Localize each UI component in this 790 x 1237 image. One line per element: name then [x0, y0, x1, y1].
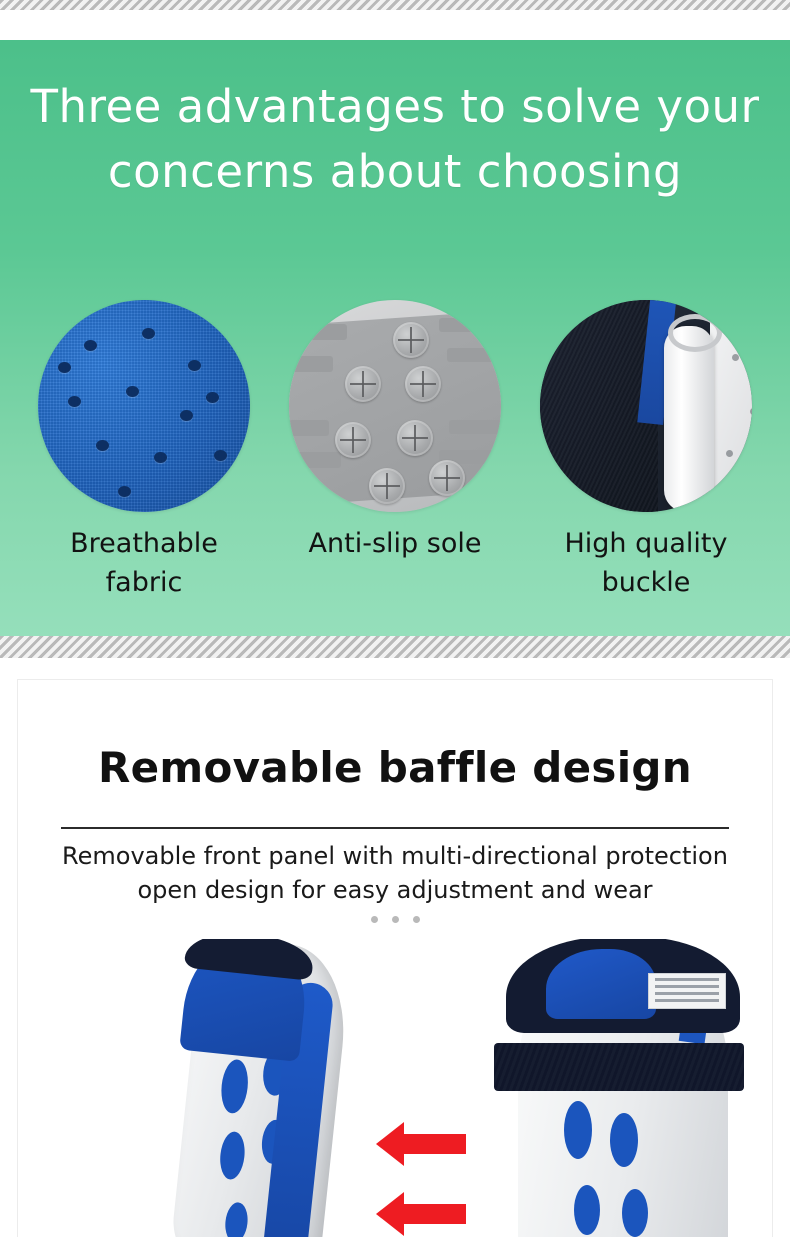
removable-baffle-card: Removable baffle design Removable front …: [18, 680, 772, 1237]
arrow-head: [376, 1122, 404, 1166]
removable-front-panel-photo: [151, 939, 384, 1237]
boot-product-label: [648, 973, 726, 1009]
feature-breathable-fabric: Breathable fabric: [37, 300, 252, 602]
title-divider: [61, 827, 729, 829]
arrow-shaft: [404, 1134, 466, 1154]
feature-anti-slip-sole: Anti-slip sole: [288, 300, 503, 602]
separator-dot: [392, 916, 399, 923]
advantages-section: Three advantages to solve your concerns …: [0, 40, 790, 636]
high-quality-buckle-icon: [540, 300, 752, 512]
buckle-bar: [664, 326, 714, 512]
breathable-fabric-icon: [38, 300, 250, 512]
product-photo-area: [18, 939, 772, 1237]
boot-velcro-strap: [494, 1043, 744, 1091]
arrow-shaft: [404, 1204, 466, 1224]
top-decorative-stripe: [0, 0, 790, 10]
baffle-title: Removable baffle design: [18, 715, 772, 792]
feature-caption: Breathable fabric: [37, 524, 252, 602]
boot-blue-tongue: [546, 949, 656, 1019]
separator-dot: [371, 916, 378, 923]
left-arrow-icon-top: [376, 1131, 466, 1157]
anti-slip-sole-icon: [289, 300, 501, 512]
baffle-subtitle-line-2: open design for easy adjustment and wear: [18, 875, 772, 907]
separator-dot: [413, 916, 420, 923]
removable-baffle-section: Removable baffle design Removable front …: [0, 658, 790, 1237]
left-arrow-icon-bottom: [376, 1201, 466, 1227]
feature-high-quality-buckle: High quality buckle: [539, 300, 754, 602]
buckle-ring: [668, 314, 722, 352]
feature-caption: Anti-slip sole: [309, 524, 482, 563]
dot-separator: [18, 916, 772, 923]
feature-caption: High quality buckle: [539, 524, 754, 602]
ankle-brace-boot-photo: [488, 939, 768, 1237]
arrow-head: [376, 1192, 404, 1236]
baffle-subtitle-line-1: Removable front panel with multi-directi…: [18, 841, 772, 873]
advantages-feature-row: Breathable fabric An: [0, 300, 790, 602]
advantages-heading: Three advantages to solve your concerns …: [0, 40, 790, 205]
middle-decorative-stripe: [0, 636, 790, 658]
